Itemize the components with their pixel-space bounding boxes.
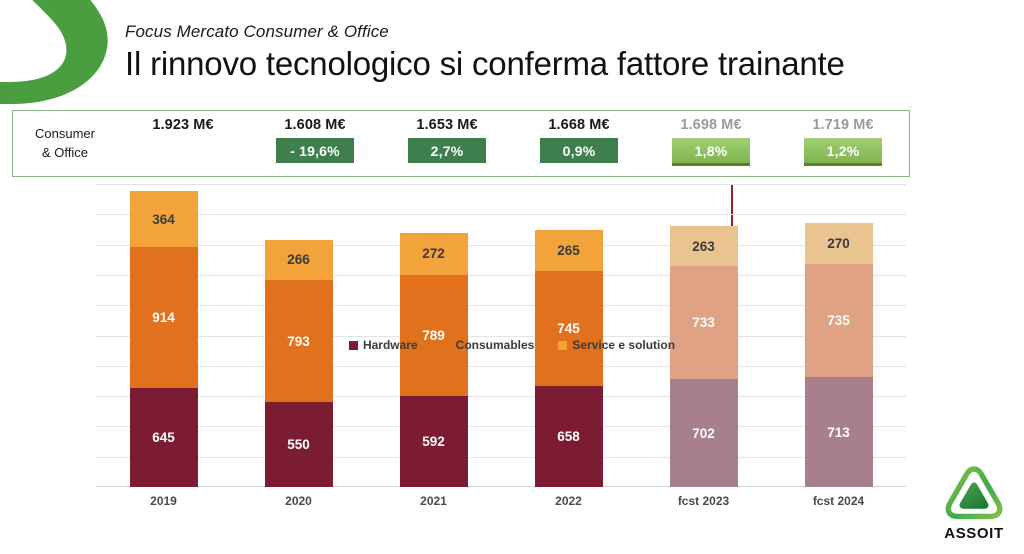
bar-segment-hardware[interactable]: 658 — [535, 386, 603, 487]
legend-swatch-icon — [558, 341, 567, 350]
chart-plot-area: 3649146452019266793550202027278959220212… — [96, 184, 906, 487]
bar-value-label: 702 — [692, 426, 715, 441]
summary-cell-fcst-2024: 1.719 M€ 1,2% — [777, 111, 909, 176]
bar-2020[interactable]: 266793550 — [265, 240, 333, 487]
bar-segment-hardware[interactable]: 550 — [265, 402, 333, 487]
x-axis-tick-fcst-2024: fcst 2024 — [769, 494, 909, 508]
bar-value-label: 272 — [422, 246, 445, 261]
summary-cell-2021: 1.653 M€ 2,7% — [381, 111, 513, 176]
bar-segment-service-e-solution[interactable]: 272 — [400, 233, 468, 275]
legend-swatch-icon — [349, 341, 358, 350]
x-axis-line — [96, 486, 906, 487]
bar-segment-service-e-solution[interactable]: 266 — [265, 240, 333, 281]
bar-value-label: 914 — [152, 310, 175, 325]
bar-value-label: 735 — [827, 313, 850, 328]
bar-segment-service-e-solution[interactable]: 364 — [130, 191, 198, 247]
summary-table: Consumer & Office 1.923 M€ 1.608 M€ - 19… — [12, 110, 910, 177]
summary-amount-fcst-2023: 1.698 M€ — [680, 117, 741, 133]
bar-value-label: 265 — [557, 243, 580, 258]
summary-amount-2020: 1.608 M€ — [284, 117, 345, 133]
bar-segment-consumables[interactable]: 914 — [130, 247, 198, 388]
bar-value-label: 645 — [152, 430, 175, 445]
summary-row-label: Consumer & Office — [13, 111, 117, 176]
bar-value-label: 793 — [287, 334, 310, 349]
summary-amount-2022: 1.668 M€ — [548, 117, 609, 133]
stacked-bar-chart: Valori in milioni di euro 36491464520192… — [0, 177, 1024, 554]
bar-segment-hardware[interactable]: 645 — [130, 388, 198, 487]
bar-value-label: 592 — [422, 434, 445, 449]
gridline — [96, 275, 906, 276]
gridline — [96, 366, 906, 367]
summary-cell-2019: 1.923 M€ — [117, 111, 249, 176]
bar-segment-service-e-solution[interactable]: 265 — [535, 230, 603, 271]
page-title: Il rinnovo tecnologico si conferma fatto… — [125, 45, 995, 83]
gridline — [96, 396, 906, 397]
summary-cell-2022: 1.668 M€ 0,9% — [513, 111, 645, 176]
summary-growth-2019 — [144, 138, 222, 163]
summary-row-label-line2: & Office — [42, 144, 88, 163]
summary-growth-fcst-2023: 1,8% — [672, 138, 750, 166]
gridline — [96, 336, 906, 337]
bar-segment-service-e-solution[interactable]: 263 — [670, 226, 738, 266]
bar-fcst-2023[interactable]: 263733702 — [670, 226, 738, 487]
bar-segment-service-e-solution[interactable]: 270 — [805, 223, 873, 265]
gridline — [96, 426, 906, 427]
summary-growth-2020: - 19,6% — [276, 138, 354, 163]
bar-value-label: 733 — [692, 315, 715, 330]
bar-2021[interactable]: 272789592 — [400, 233, 468, 487]
assoit-triangle-icon — [944, 466, 1004, 524]
x-axis-tick-fcst-2023: fcst 2023 — [634, 494, 774, 508]
summary-row-label-line1: Consumer — [35, 125, 95, 144]
summary-cell-2020: 1.608 M€ - 19,6% — [249, 111, 381, 176]
slide-kicker: Focus Mercato Consumer & Office — [125, 22, 995, 42]
summary-growth-2021: 2,7% — [408, 138, 486, 163]
bar-value-label: 364 — [152, 212, 175, 227]
x-axis-tick-2019: 2019 — [94, 494, 234, 508]
x-axis-tick-2021: 2021 — [364, 494, 504, 508]
gridline — [96, 214, 906, 215]
gridline — [96, 305, 906, 306]
legend-label: Consumables — [456, 338, 535, 352]
bar-2022[interactable]: 265745658 — [535, 230, 603, 487]
gridline — [96, 457, 906, 458]
x-axis-tick-2022: 2022 — [499, 494, 639, 508]
bar-value-label: 658 — [557, 429, 580, 444]
brand-swoosh-graphic — [0, 0, 140, 104]
bar-value-label: 713 — [827, 425, 850, 440]
x-axis-tick-2020: 2020 — [229, 494, 369, 508]
legend-item-hardware[interactable]: Hardware — [349, 338, 418, 352]
summary-amount-fcst-2024: 1.719 M€ — [812, 117, 873, 133]
bar-segment-hardware[interactable]: 713 — [805, 377, 873, 487]
bar-value-label: 550 — [287, 437, 310, 452]
bar-segment-consumables[interactable]: 745 — [535, 271, 603, 386]
summary-growth-2022: 0,9% — [540, 138, 618, 163]
summary-row: Consumer & Office 1.923 M€ 1.608 M€ - 19… — [13, 111, 909, 176]
gridline — [96, 184, 906, 185]
bar-value-label: 270 — [827, 236, 850, 251]
summary-cells: 1.923 M€ 1.608 M€ - 19,6% 1.653 M€ 2,7% … — [117, 111, 909, 176]
bar-value-label: 745 — [557, 321, 580, 336]
assoit-logo: ASSOIT — [930, 466, 1018, 550]
bar-value-label: 266 — [287, 252, 310, 267]
bar-segment-hardware[interactable]: 702 — [670, 379, 738, 487]
bar-segment-consumables[interactable]: 735 — [805, 264, 873, 377]
bar-segment-hardware[interactable]: 592 — [400, 396, 468, 487]
legend-label: Hardware — [363, 338, 418, 352]
legend-label: Service e solution — [572, 338, 675, 352]
legend-item-service-e-solution[interactable]: Service e solution — [558, 338, 675, 352]
summary-growth-fcst-2024: 1,2% — [804, 138, 882, 166]
legend-item-consumables[interactable]: Consumables — [442, 338, 535, 352]
gridline — [96, 245, 906, 246]
bar-fcst-2024[interactable]: 270735713 — [805, 223, 873, 487]
assoit-wordmark: ASSOIT — [930, 525, 1018, 542]
bar-segment-consumables[interactable]: 733 — [670, 266, 738, 379]
summary-amount-2021: 1.653 M€ — [416, 117, 477, 133]
summary-cell-fcst-2023: 1.698 M€ 1,8% — [645, 111, 777, 176]
bar-value-label: 263 — [692, 239, 715, 254]
chart-legend: HardwareConsumablesService e solution — [0, 338, 1024, 352]
slide-header: Focus Mercato Consumer & Office Il rinno… — [125, 22, 995, 83]
summary-amount-2019: 1.923 M€ — [152, 117, 213, 133]
bar-value-label: 789 — [422, 328, 445, 343]
bar-segment-consumables[interactable]: 789 — [400, 275, 468, 396]
